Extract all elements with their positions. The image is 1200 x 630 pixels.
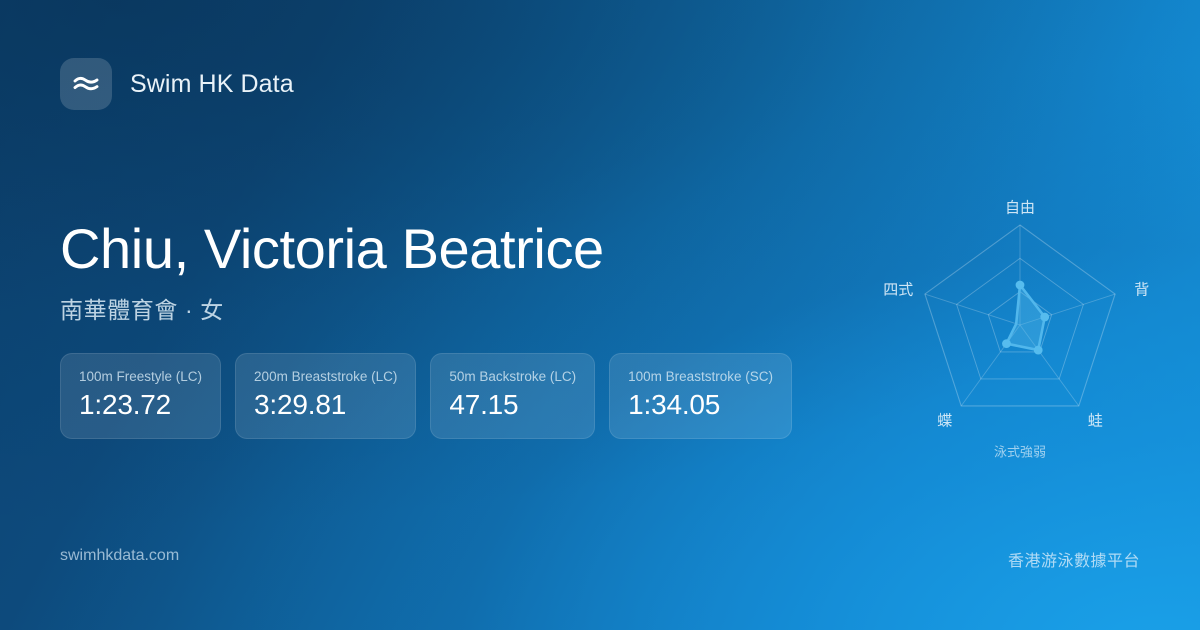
stat-card[interactable]: 50m Backstroke (LC) 47.15 xyxy=(430,353,595,439)
hero-block: Chiu, Victoria Beatrice 南華體育會 · 女 xyxy=(60,218,604,325)
stat-card-value: 47.15 xyxy=(449,389,576,421)
stat-card[interactable]: 200m Breaststroke (LC) 3:29.81 xyxy=(235,353,416,439)
radar-axis-label-free: 自由 xyxy=(1005,197,1035,218)
wave-icon xyxy=(60,58,112,110)
brand-name: Swim HK Data xyxy=(130,70,294,99)
stat-card-value: 3:29.81 xyxy=(254,389,397,421)
page-title: Chiu, Victoria Beatrice xyxy=(60,218,604,281)
stat-card-label: 100m Freestyle (LC) xyxy=(79,369,202,384)
footer-tagline: 香港游泳數據平台 xyxy=(1008,547,1140,571)
radar-axis-label-back: 背 xyxy=(1134,278,1149,299)
stat-card-list: 100m Freestyle (LC) 1:23.72 200m Breasts… xyxy=(60,353,792,439)
stat-card-value: 1:34.05 xyxy=(628,389,773,421)
radar-chart-caption: 泳式強弱 xyxy=(994,442,1046,461)
stat-card-label: 50m Backstroke (LC) xyxy=(449,369,576,384)
stat-card-value: 1:23.72 xyxy=(79,389,202,421)
footer-site-url: swimhkdata.com xyxy=(60,547,179,565)
radar-axis-label-breast: 蛙 xyxy=(1088,410,1103,431)
radar-chart: 自由 背 蛙 蝶 四式 泳式強弱 xyxy=(880,166,1170,476)
stat-card-label: 200m Breaststroke (LC) xyxy=(254,369,397,384)
athlete-meta: 南華體育會 · 女 xyxy=(60,291,604,325)
radar-axis-label-fly: 蝶 xyxy=(937,410,952,431)
stat-card-label: 100m Breaststroke (SC) xyxy=(628,369,773,384)
stat-card[interactable]: 100m Breaststroke (SC) 1:34.05 xyxy=(609,353,792,439)
brand-header[interactable]: Swim HK Data xyxy=(60,58,294,110)
stat-card[interactable]: 100m Freestyle (LC) 1:23.72 xyxy=(60,353,221,439)
radar-axis-label-im: 四式 xyxy=(883,278,913,299)
